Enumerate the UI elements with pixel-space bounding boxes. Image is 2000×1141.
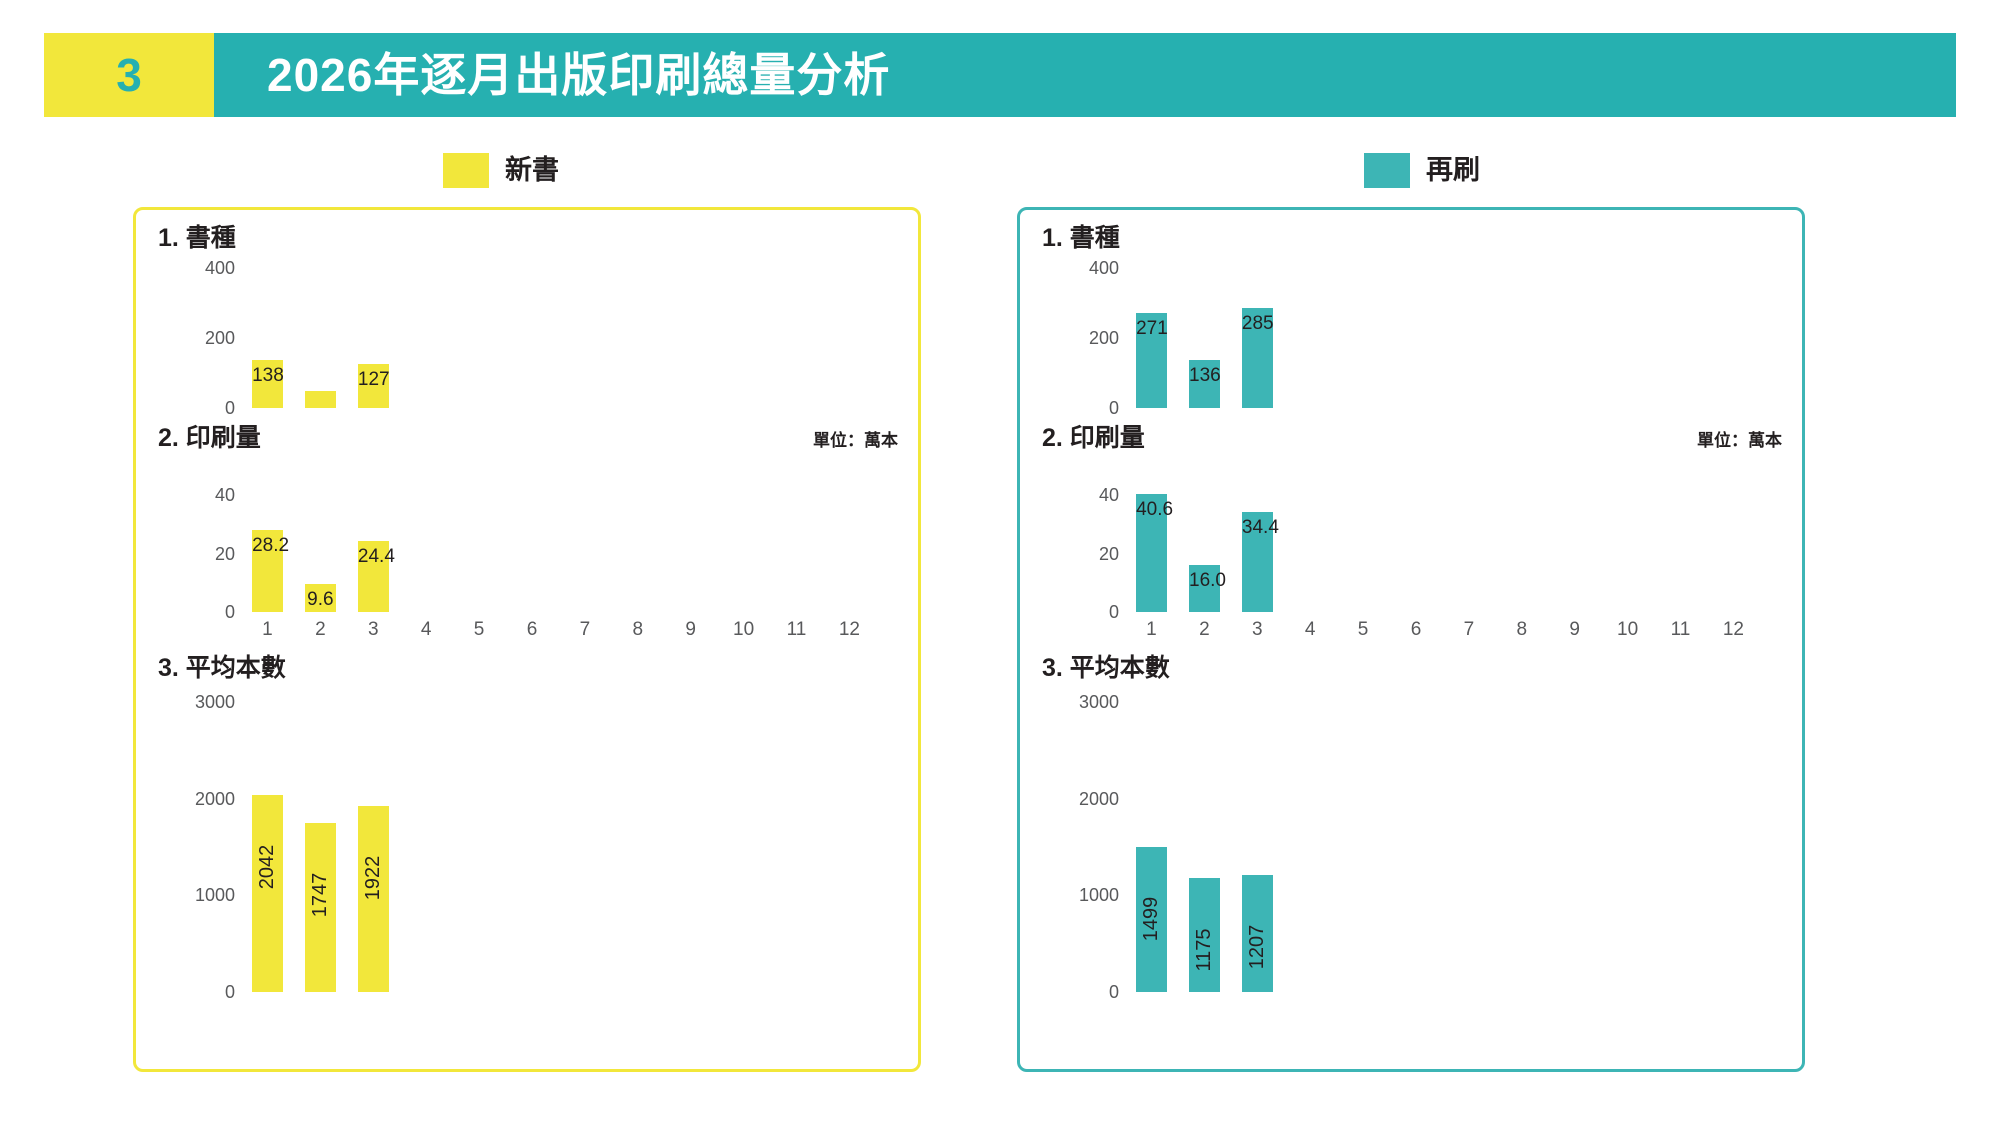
bar-slot: [664, 472, 717, 612]
bar[interactable]: 16.0: [1189, 565, 1220, 612]
bar-slot: 1207: [1231, 702, 1284, 992]
bar-series: 28.29.624.4: [241, 472, 876, 612]
bar-slot: 1922: [347, 702, 400, 992]
bar-slot: [506, 702, 559, 992]
x-axis-tick-label: 10: [1601, 620, 1654, 639]
bar[interactable]: 1207: [1242, 875, 1273, 992]
bar-value-label: 28.2: [252, 536, 283, 555]
legend-swatch-icon-reprints: [1364, 153, 1410, 188]
bar-slot: [1337, 268, 1390, 408]
bar-slot: [664, 702, 717, 992]
bar[interactable]: 1499: [1136, 847, 1167, 992]
bar-value-label: 16.0: [1189, 571, 1220, 590]
x-axis-tick-label: 8: [1495, 620, 1548, 639]
x-axis-tick-label: 11: [770, 620, 823, 639]
bar-slot: [1284, 702, 1337, 992]
y-axis-ticks: 0200400: [1073, 268, 1119, 408]
bar-slot: [1337, 472, 1390, 612]
x-axis-tick-label: 5: [453, 620, 506, 639]
legend-new-books: 新書: [443, 153, 559, 188]
bar-value-label: 24.4: [358, 547, 389, 566]
bar-slot: [1284, 268, 1337, 408]
chart-new-books-titles: 0200400138127: [241, 268, 876, 408]
bar-slot: 40.6: [1125, 472, 1178, 612]
section-title-3-right: 3. 平均本數: [1042, 656, 1170, 681]
bar-slot: 1747: [294, 702, 347, 992]
x-axis: 123456789101112: [241, 620, 876, 639]
bar-slot: [1601, 472, 1654, 612]
y-axis-tick-label: 2000: [195, 790, 235, 808]
bar-slot: [770, 472, 823, 612]
bar[interactable]: 1175: [1189, 878, 1220, 992]
x-axis-tick-label: 3: [347, 620, 400, 639]
bar-value-label: 1922: [363, 856, 383, 901]
x-axis-tick-label: 1: [241, 620, 294, 639]
bar-slot: [1442, 268, 1495, 408]
bar-slot: [823, 472, 876, 612]
x-axis-tick-label: 12: [1707, 620, 1760, 639]
bar[interactable]: 34.4: [1242, 512, 1273, 612]
y-axis-tick-label: 0: [1109, 399, 1119, 417]
bar-slot: 28.2: [241, 472, 294, 612]
bar-slot: 138: [241, 268, 294, 408]
bar-slot: [611, 268, 664, 408]
panel-new-books: 1. 書種 0200400138127 2. 印刷量 單位：萬本 0204028…: [133, 207, 921, 1072]
bar[interactable]: 9.6: [305, 584, 336, 612]
bar-slot: 127: [347, 268, 400, 408]
bar-slot: [1284, 472, 1337, 612]
bar-slot: [1601, 702, 1654, 992]
y-axis-tick-label: 400: [1089, 259, 1119, 277]
y-axis-tick-label: 20: [215, 545, 235, 563]
y-axis-tick-label: 2000: [1079, 790, 1119, 808]
x-axis-tick-label: 1: [1125, 620, 1178, 639]
y-axis-tick-label: 200: [1089, 329, 1119, 347]
bar-slot: [1495, 472, 1548, 612]
bar[interactable]: 24.4: [358, 541, 389, 612]
bar-slot: 271: [1125, 268, 1178, 408]
y-axis-tick-label: 20: [1099, 545, 1119, 563]
bar-slot: 136: [1178, 268, 1231, 408]
y-axis-tick-label: 0: [225, 399, 235, 417]
bar-value-label: 136: [1189, 366, 1220, 385]
bar-slot: 1499: [1125, 702, 1178, 992]
chart-new-books-avg-copies: 0100020003000204217471922: [241, 702, 876, 992]
bar-value-label: 285: [1242, 314, 1273, 333]
bar-slot: [1548, 268, 1601, 408]
bar-slot: [823, 702, 876, 992]
bar-value-label: 138: [252, 366, 283, 385]
x-axis-tick-label: 6: [506, 620, 559, 639]
y-axis-tick-label: 40: [215, 486, 235, 504]
x-axis-tick-label: 8: [611, 620, 664, 639]
bar-slot: [400, 472, 453, 612]
x-axis-tick-label: 9: [664, 620, 717, 639]
section-unit-2-left: 單位：萬本: [813, 432, 898, 449]
header-section-number-badge: 3: [44, 33, 214, 117]
bar-value-label: 1747: [310, 873, 330, 918]
y-axis-tick-label: 200: [205, 329, 235, 347]
bar-slot: [770, 702, 823, 992]
section-reprints-print-volume: 2. 印刷量 單位：萬本 0204040.616.034.41234567891…: [1020, 420, 1802, 665]
bar[interactable]: 40.6: [1136, 494, 1167, 612]
section-new-books-titles: 1. 書種 0200400138127: [136, 220, 918, 430]
bar-series: 138127: [241, 268, 876, 408]
bar-slot: [294, 268, 347, 408]
section-reprints-avg-copies: 3. 平均本數 0100020003000149911751207: [1020, 650, 1802, 1070]
x-axis-tick-label: 6: [1390, 620, 1443, 639]
bar[interactable]: 271: [1136, 313, 1167, 408]
y-axis-tick-label: 0: [1109, 983, 1119, 1001]
bar-slot: [1654, 268, 1707, 408]
bar-slot: 1175: [1178, 702, 1231, 992]
x-axis-tick-label: 2: [294, 620, 347, 639]
bar-slot: [611, 472, 664, 612]
bar-slot: [1390, 702, 1443, 992]
bar-slot: [1707, 702, 1760, 992]
section-title-3-left: 3. 平均本數: [158, 656, 286, 681]
bar-slot: [1390, 268, 1443, 408]
bar-series: 204217471922: [241, 702, 876, 992]
x-axis-tick-label: 10: [717, 620, 770, 639]
x-axis-tick-label: 4: [400, 620, 453, 639]
bar-slot: [823, 268, 876, 408]
section-title-1-left: 1. 書種: [158, 226, 236, 251]
bar[interactable]: 127: [358, 364, 389, 408]
bar-slot: [1654, 472, 1707, 612]
header-section-number: 3: [116, 52, 142, 98]
panel-reprints: 1. 書種 0200400271136285 2. 印刷量 單位：萬本 0204…: [1017, 207, 1805, 1072]
bar-slot: [1337, 702, 1390, 992]
bar-slot: [453, 268, 506, 408]
y-axis-ticks: 0200400: [189, 268, 235, 408]
bar[interactable]: 136: [1189, 360, 1220, 408]
bar-slot: [1390, 472, 1443, 612]
x-axis-tick-label: 7: [1442, 620, 1495, 639]
page-title: 2026年逐月出版印刷總量分析: [267, 52, 890, 98]
section-title-2-right: 2. 印刷量: [1042, 426, 1145, 451]
bar[interactable]: [305, 391, 336, 409]
bar-slot: [506, 472, 559, 612]
bar-slot: [770, 268, 823, 408]
x-axis-tick-label: 9: [1548, 620, 1601, 639]
bar-slot: [558, 268, 611, 408]
bar-slot: [453, 472, 506, 612]
bar-value-label: 1499: [1141, 897, 1161, 942]
bar[interactable]: 285: [1242, 308, 1273, 408]
bar-value-label: 127: [358, 370, 389, 389]
bar-slot: [1495, 268, 1548, 408]
section-title-2-left: 2. 印刷量: [158, 426, 261, 451]
x-axis-tick-label: 7: [558, 620, 611, 639]
y-axis-ticks: 0100020003000: [189, 702, 235, 992]
bar-slot: [717, 472, 770, 612]
bar-slot: [506, 268, 559, 408]
bar-series: 149911751207: [1125, 702, 1760, 992]
bar-value-label: 40.6: [1136, 500, 1167, 519]
bar-slot: 285: [1231, 268, 1284, 408]
bar-slot: [664, 268, 717, 408]
bar-slot: [611, 702, 664, 992]
bar-series: 271136285: [1125, 268, 1760, 408]
chart-reprints-print-volume: 0204040.616.034.4123456789101112: [1125, 472, 1760, 612]
bar-slot: 24.4: [347, 472, 400, 612]
section-new-books-avg-copies: 3. 平均本數 0100020003000204217471922: [136, 650, 918, 1070]
bar-slot: [1442, 702, 1495, 992]
section-new-books-print-volume: 2. 印刷量 單位：萬本 0204028.29.624.412345678910…: [136, 420, 918, 665]
x-axis-tick-label: 3: [1231, 620, 1284, 639]
y-axis-tick-label: 1000: [195, 886, 235, 904]
bar-slot: [1707, 268, 1760, 408]
bar-value-label: 1175: [1194, 929, 1214, 972]
bar-series: 40.616.034.4: [1125, 472, 1760, 612]
section-title-1-right: 1. 書種: [1042, 226, 1120, 251]
x-axis-tick-label: 12: [823, 620, 876, 639]
legend-label-reprints: 再刷: [1426, 157, 1480, 184]
y-axis-ticks: 02040: [189, 472, 235, 612]
bar-slot: [1548, 702, 1601, 992]
bar[interactable]: 1922: [358, 806, 389, 992]
bar-value-label: 2042: [257, 844, 277, 889]
bar-slot: [717, 702, 770, 992]
legend-swatch-icon-new-books: [443, 153, 489, 188]
bar-slot: [453, 702, 506, 992]
chart-new-books-print-volume: 0204028.29.624.4123456789101112: [241, 472, 876, 612]
y-axis-tick-label: 0: [1109, 603, 1119, 621]
bar-slot: [1495, 702, 1548, 992]
bar-slot: 9.6: [294, 472, 347, 612]
y-axis-ticks: 02040: [1073, 472, 1119, 612]
legend-label-new-books: 新書: [505, 157, 559, 184]
y-axis-tick-label: 400: [205, 259, 235, 277]
y-axis-tick-label: 0: [225, 603, 235, 621]
legend-reprints: 再刷: [1364, 153, 1480, 188]
bar-slot: [1654, 702, 1707, 992]
section-reprints-titles: 1. 書種 0200400271136285: [1020, 220, 1802, 430]
y-axis-tick-label: 3000: [195, 693, 235, 711]
bar[interactable]: 2042: [252, 795, 283, 992]
y-axis-tick-label: 3000: [1079, 693, 1119, 711]
bar-value-label: 34.4: [1242, 518, 1273, 537]
bar-value-label: 9.6: [305, 590, 336, 609]
bar[interactable]: 1747: [305, 823, 336, 992]
x-axis-tick-label: 2: [1178, 620, 1231, 639]
bar-slot: [717, 268, 770, 408]
section-unit-2-right: 單位：萬本: [1697, 432, 1782, 449]
bar-slot: [558, 472, 611, 612]
bar-slot: [1442, 472, 1495, 612]
bar-value-label: 1207: [1247, 925, 1267, 970]
y-axis-tick-label: 1000: [1079, 886, 1119, 904]
x-axis-tick-label: 4: [1284, 620, 1337, 639]
bar[interactable]: 138: [252, 360, 283, 408]
header-title-bar: 2026年逐月出版印刷總量分析: [214, 33, 1956, 117]
bar-slot: [558, 702, 611, 992]
bar-slot: 34.4: [1231, 472, 1284, 612]
bar-slot: 16.0: [1178, 472, 1231, 612]
bar-value-label: 271: [1136, 319, 1167, 338]
bar[interactable]: 28.2: [252, 530, 283, 612]
y-axis-tick-label: 40: [1099, 486, 1119, 504]
y-axis-tick-label: 0: [225, 983, 235, 1001]
bar-slot: 2042: [241, 702, 294, 992]
y-axis-ticks: 0100020003000: [1073, 702, 1119, 992]
x-axis-tick-label: 11: [1654, 620, 1707, 639]
bar-slot: [1601, 268, 1654, 408]
bar-slot: [1548, 472, 1601, 612]
bar-slot: [1707, 472, 1760, 612]
bar-slot: [400, 268, 453, 408]
chart-reprints-avg-copies: 0100020003000149911751207: [1125, 702, 1760, 992]
chart-reprints-titles: 0200400271136285: [1125, 268, 1760, 408]
bar-slot: [400, 702, 453, 992]
x-axis-tick-label: 5: [1337, 620, 1390, 639]
x-axis: 123456789101112: [1125, 620, 1760, 639]
page-header: 3 2026年逐月出版印刷總量分析: [44, 33, 1956, 117]
